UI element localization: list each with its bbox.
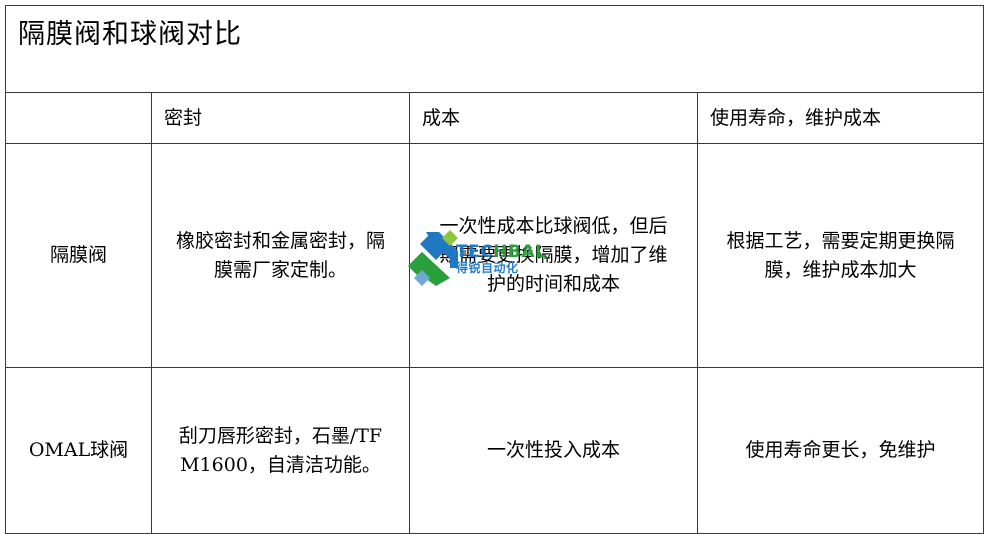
row-header-diaphragm-valve: 隔膜阀 <box>6 144 152 368</box>
cell-value: 使用寿命更长，免维护 <box>706 436 975 465</box>
cell-ball-sealing: 刮刀唇形密封，石墨/TFM1600，自清洁功能。 <box>152 368 410 534</box>
cell-diaphragm-cost: 一次性成本比球阀低，但后期需要更换隔膜，增加了维护的时间和成本 <box>410 144 698 368</box>
cell-ball-cost: 一次性投入成本 <box>410 368 698 534</box>
table-row: OMAL球阀 刮刀唇形密封，石墨/TFM1600，自清洁功能。 一次性投入成本 … <box>6 368 984 534</box>
header-cell-corner <box>6 93 152 144</box>
cell-diaphragm-life-maintenance: 根据工艺，需要定期更换隔膜，维护成本加大 <box>698 144 984 368</box>
comparison-table: 隔膜阀和球阀对比 密封 成本 使用寿命，维护成本 隔膜阀 <box>5 5 984 534</box>
cell-value: 一次性投入成本 <box>418 436 689 465</box>
header-cell-cost: 成本 <box>410 93 698 144</box>
table-title-cell: 隔膜阀和球阀对比 <box>6 6 984 93</box>
page-title: 隔膜阀和球阀对比 <box>18 20 983 50</box>
header-sealing-label: 密封 <box>164 107 401 130</box>
cell-ball-life-maintenance: 使用寿命更长，免维护 <box>698 368 984 534</box>
cell-value: 根据工艺，需要定期更换隔膜，维护成本加大 <box>723 227 959 285</box>
table-title-row: 隔膜阀和球阀对比 <box>6 6 984 93</box>
table-header-row: 密封 成本 使用寿命，维护成本 <box>6 93 984 144</box>
table-row: 隔膜阀 橡胶密封和金属密封，隔膜需厂家定制。 一次性成本比球阀低，但后期需要更换… <box>6 144 984 368</box>
page-root: 隔膜阀和球阀对比 密封 成本 使用寿命，维护成本 隔膜阀 <box>0 0 988 523</box>
cell-value: 一次性成本比球阀低，但后期需要更换隔膜，增加了维护的时间和成本 <box>435 212 673 299</box>
row-label: 隔膜阀 <box>14 242 143 269</box>
cell-value: 刮刀唇形密封，石墨/TFM1600，自清洁功能。 <box>175 422 387 480</box>
row-label: OMAL球阀 <box>14 437 143 464</box>
row-header-omal-ball-valve: OMAL球阀 <box>6 368 152 534</box>
header-cost-label: 成本 <box>422 107 689 130</box>
cell-value: 橡胶密封和金属密封，隔膜需厂家定制。 <box>175 227 387 285</box>
header-life-maintenance-label: 使用寿命，维护成本 <box>710 107 975 130</box>
header-cell-sealing: 密封 <box>152 93 410 144</box>
cell-diaphragm-sealing: 橡胶密封和金属密封，隔膜需厂家定制。 <box>152 144 410 368</box>
header-cell-life-maintenance: 使用寿命，维护成本 <box>698 93 984 144</box>
